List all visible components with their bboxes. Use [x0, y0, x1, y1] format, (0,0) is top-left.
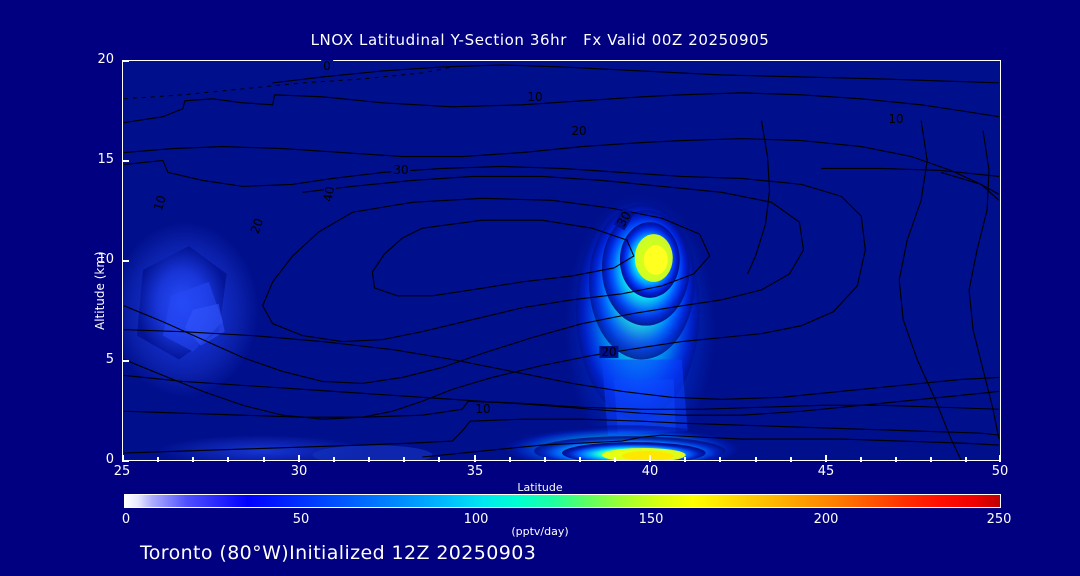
- colorbar-units: (pptv/day): [0, 525, 1080, 538]
- xtick-label-30: 30: [269, 464, 329, 479]
- xtick-minor: [192, 457, 194, 462]
- xtick-minor: [157, 457, 159, 462]
- xtick-minor: [930, 457, 932, 462]
- xtick-minor: [860, 457, 862, 462]
- ytick-mark: [122, 160, 129, 162]
- xtick-minor: [509, 457, 511, 462]
- page-title: LNOX Latitudinal Y-Section 36hr Fx Valid…: [0, 31, 1080, 49]
- xtick-minor: [333, 457, 335, 462]
- ytick-label-15: 15: [74, 152, 114, 167]
- main-upper-plume: [564, 193, 716, 460]
- contour-label: 20: [599, 346, 618, 358]
- xtick-minor: [368, 457, 370, 462]
- xtick-mark: [298, 455, 300, 462]
- xtick-label-40: 40: [620, 464, 680, 479]
- xtick-minor: [895, 457, 897, 462]
- contour-label: 40: [321, 183, 336, 204]
- ytick-mark: [122, 360, 129, 362]
- xtick-minor: [403, 457, 405, 462]
- xtick-minor: [790, 457, 792, 462]
- contour-label: 30: [391, 164, 410, 176]
- xtick-label-25: 25: [92, 464, 152, 479]
- xtick-label-35: 35: [445, 464, 505, 479]
- contour-label: 10: [886, 113, 905, 125]
- contour-label: 10: [473, 403, 492, 415]
- xtick-minor: [614, 457, 616, 462]
- x-axis-label: Latitude: [0, 481, 1080, 494]
- contour-label: 20: [569, 125, 588, 137]
- ytick-mark: [122, 260, 129, 262]
- xtick-mark: [649, 455, 651, 462]
- ytick-label-5: 5: [74, 352, 114, 367]
- field-background: [123, 61, 1000, 460]
- xtick-minor: [965, 457, 967, 462]
- xtick-minor: [544, 457, 546, 462]
- ytick-label-20: 20: [74, 52, 114, 67]
- xtick-minor: [684, 457, 686, 462]
- xtick-minor: [579, 457, 581, 462]
- xtick-label-45: 45: [796, 464, 856, 479]
- xtick-minor: [719, 457, 721, 462]
- xtick-mark: [122, 455, 124, 462]
- xtick-minor: [227, 457, 229, 462]
- y-axis-label: Altitude (km): [93, 251, 107, 330]
- contour-label: 10: [525, 91, 544, 103]
- ytick-mark: [122, 60, 129, 62]
- colorbar[interactable]: [124, 494, 1001, 508]
- xtick-label-50: 50: [970, 464, 1030, 479]
- plot-area[interactable]: [122, 60, 1001, 461]
- xtick-minor: [755, 457, 757, 462]
- xtick-minor: [438, 457, 440, 462]
- footer-caption: Toronto (80°W)Initialized 12Z 20250903: [140, 542, 536, 564]
- xtick-minor: [263, 457, 265, 462]
- contour-label: 0: [321, 60, 333, 72]
- xtick-mark: [474, 455, 476, 462]
- xtick-mark: [825, 455, 827, 462]
- plot-canvas: [123, 61, 1000, 460]
- xtick-mark: [999, 455, 1001, 462]
